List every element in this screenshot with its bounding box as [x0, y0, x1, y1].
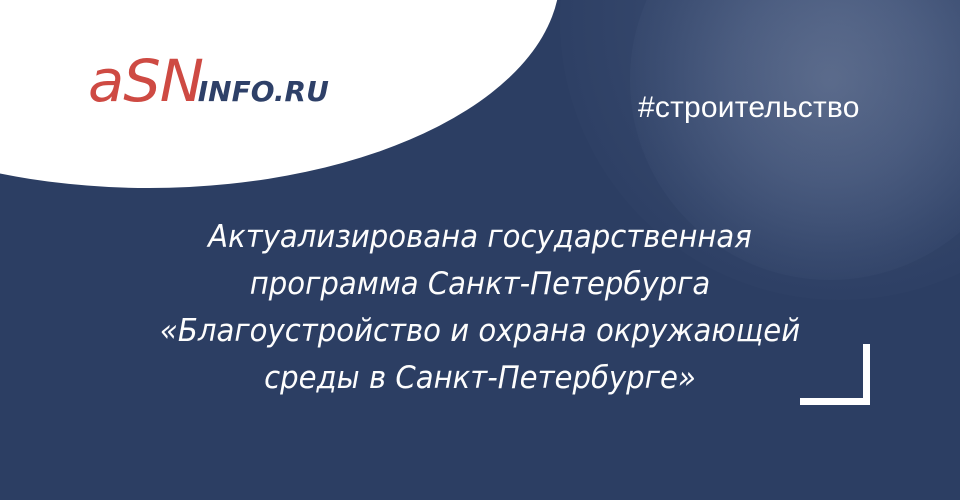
- asn-info-logo[interactable]: aSN INFO.RU: [88, 52, 329, 110]
- corner-bracket-decoration: [800, 344, 870, 405]
- hashtag-stroitelstvo[interactable]: #строительство: [638, 91, 860, 125]
- corner-bracket-horizontal-bar: [800, 398, 870, 405]
- headline-line-1: Актуализирована государственная: [29, 214, 931, 261]
- logo-info-ru-text: INFO.RU: [198, 78, 329, 106]
- headline-line-4: среды в Санкт-Петербурге»: [29, 355, 931, 402]
- news-banner-card: aSN INFO.RU #строительство Актуализирова…: [0, 0, 960, 500]
- headline-line-3: «Благоустройство и охрана окружающей: [29, 308, 931, 355]
- corner-bracket-vertical-bar: [863, 344, 870, 405]
- logo-asn-text: aSN: [88, 52, 203, 110]
- headline-line-2: программа Санкт-Петербурга: [29, 261, 931, 308]
